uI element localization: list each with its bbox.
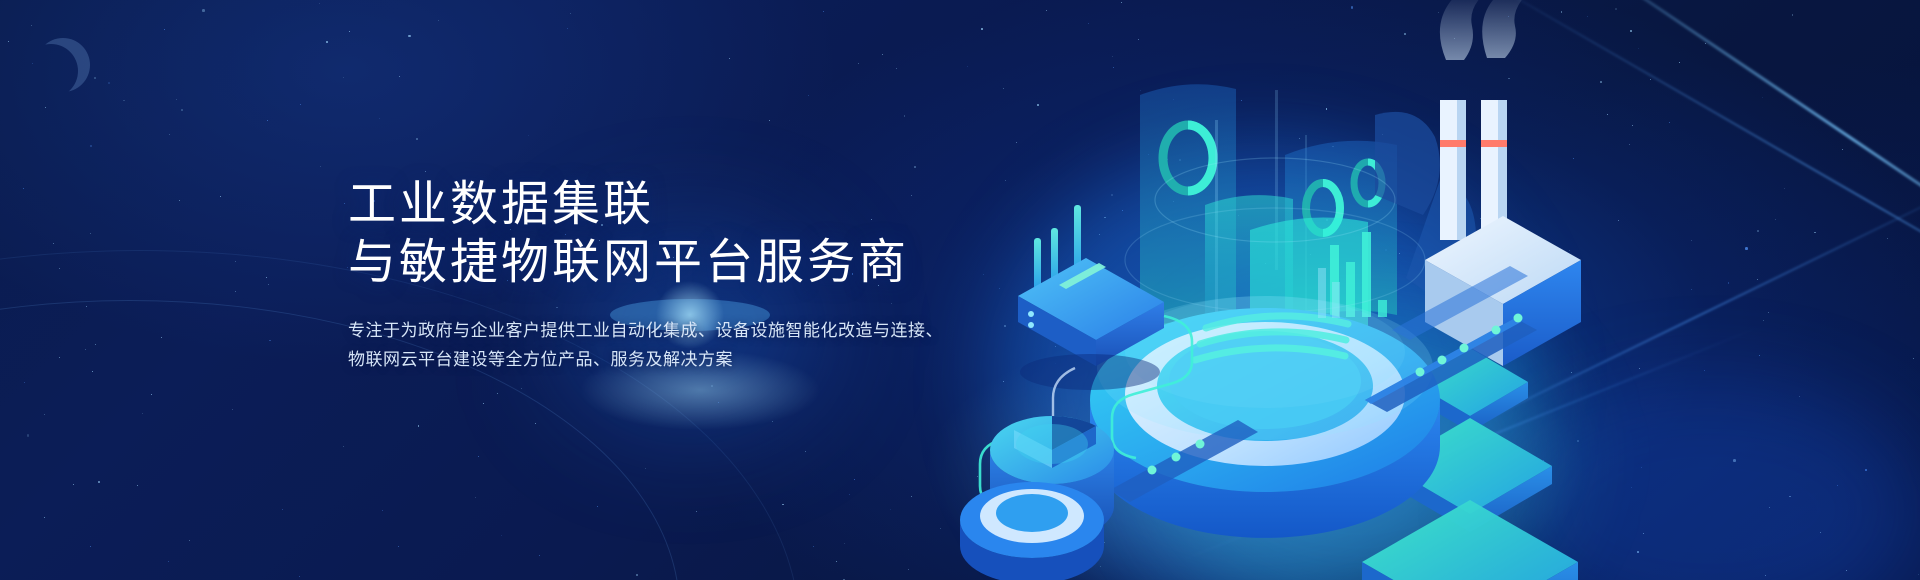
hero-banner: 工业数据集联 与敏捷物联网平台服务商 专注于为政府与企业客户提供工业自动化集成、… bbox=[0, 0, 1920, 580]
subtitle-line-2: 物联网云平台建设等全方位产品、服务及解决方案 bbox=[348, 345, 1048, 374]
headline-line-2: 与敏捷物联网平台服务商 bbox=[348, 234, 1048, 292]
ring-platform bbox=[960, 482, 1104, 580]
headline-line-1: 工业数据集联 bbox=[348, 176, 1048, 234]
page-subtitle: 专注于为政府与企业客户提供工业自动化集成、设备设施智能化改造与连接、 物联网云平… bbox=[348, 316, 1048, 374]
hero-copy: 工业数据集联 与敏捷物联网平台服务商 专注于为政府与企业客户提供工业自动化集成、… bbox=[348, 176, 1048, 374]
page-title: 工业数据集联 与敏捷物联网平台服务商 bbox=[348, 176, 1048, 292]
subtitle-line-1: 专注于为政府与企业客户提供工业自动化集成、设备设施智能化改造与连接、 bbox=[348, 316, 1048, 345]
